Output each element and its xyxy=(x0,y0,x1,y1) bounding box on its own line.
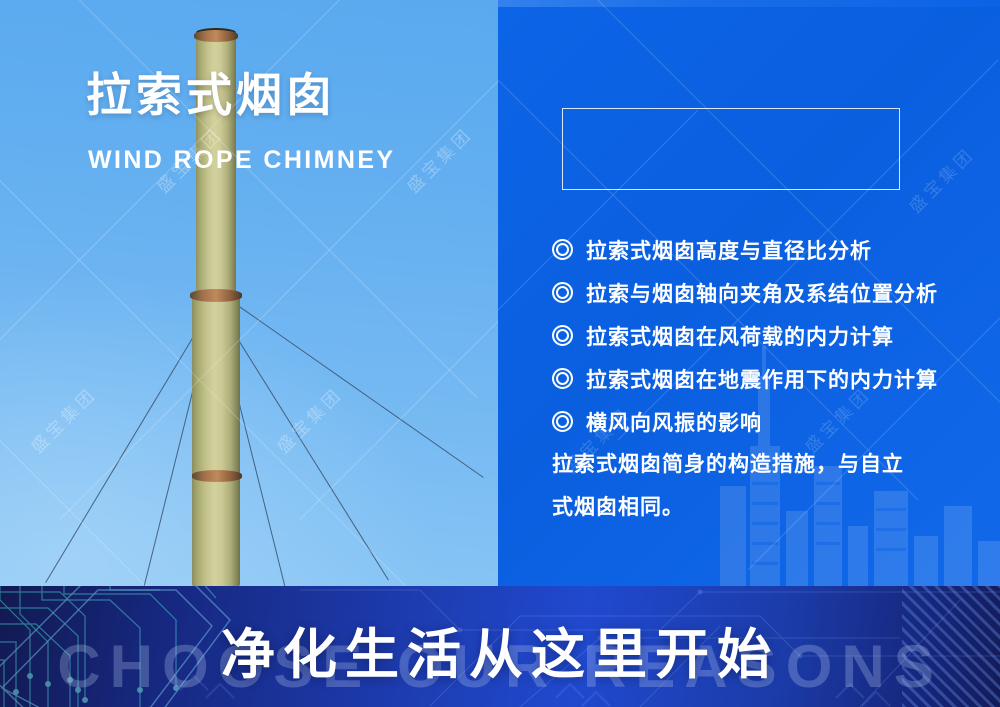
banner-slogan: 净化生活从这里开始 xyxy=(0,610,1000,689)
page-title-en: WIND ROPE CHIMNEY xyxy=(88,146,395,175)
list-item: 横风向风振的影响 xyxy=(552,400,982,443)
page-title-cn-text: 拉索式烟囱 xyxy=(86,69,336,121)
list-item-label: 横风向风振的影响 xyxy=(586,407,762,437)
list-item-label: 拉索式烟囱在地震作用下的内力计算 xyxy=(586,364,938,394)
chimney-rim-top xyxy=(194,30,238,42)
list-item: 拉索式烟囱在地震作用下的内力计算 xyxy=(552,357,982,400)
list-item-label: 拉索式烟囱高度与直径比分析 xyxy=(586,235,872,265)
double-circle-icon xyxy=(552,368,573,389)
double-circle-icon xyxy=(552,325,573,346)
feature-list: 拉索式烟囱高度与直径比分析 拉索与烟囱轴向夹角及系结位置分析 拉索式烟囱在风荷载… xyxy=(552,228,982,529)
list-item: 拉索式烟囱高度与直径比分析 xyxy=(552,228,982,271)
bottom-slogan-banner: CHOOSE OUR REASONS 净化生活从这里开始 xyxy=(0,586,1000,707)
chimney-rim-lower xyxy=(192,470,242,482)
summary-line: 拉索式烟囱简身的构造措施，与自立 xyxy=(552,443,982,486)
double-circle-icon xyxy=(552,239,573,260)
list-item-label: 拉索式烟囱在风荷载的内力计算 xyxy=(586,321,894,351)
title-frame-border xyxy=(562,108,900,190)
list-item: 拉索与烟囱轴向夹角及系结位置分析 xyxy=(552,271,982,314)
chimney-rim-middle xyxy=(190,289,242,302)
list-item: 拉索式烟囱在风荷载的内力计算 xyxy=(552,314,982,357)
double-circle-icon xyxy=(552,411,573,432)
chimney-lower-shaft xyxy=(192,296,240,586)
double-circle-icon xyxy=(552,282,573,303)
promo-banner-page: 盛宝集团 盛宝集团 盛宝集团 盛宝集团 盛宝集团 盛宝集团 xyxy=(0,0,1000,707)
summary-line: 式烟囱相同。 xyxy=(552,486,982,529)
list-item-label: 拉索与烟囱轴向夹角及系结位置分析 xyxy=(586,278,938,308)
page-title-cn: 拉索式烟囱 xyxy=(86,72,336,118)
